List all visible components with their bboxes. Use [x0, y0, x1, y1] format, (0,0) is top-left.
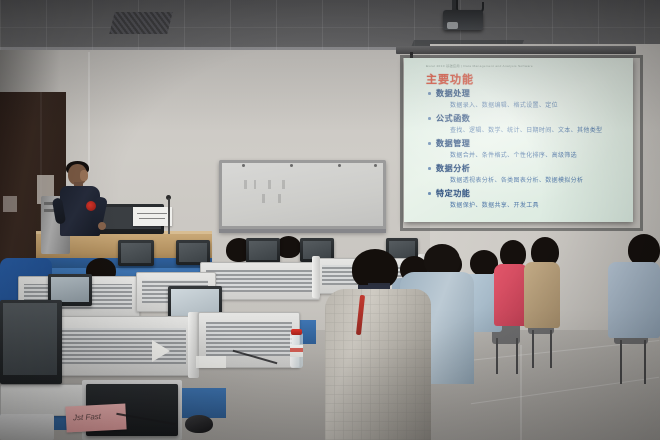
wall-corner	[88, 52, 90, 172]
chair-right-3-leg-2	[644, 340, 646, 384]
whiteboard-clip-4	[374, 164, 377, 167]
projector-lens-icon	[447, 22, 458, 29]
presenter-shirt-logo	[86, 201, 96, 211]
chair-right-2-leg-2	[550, 330, 552, 368]
wall-sign-paper-2	[3, 196, 17, 212]
paper-triangle-marker	[152, 340, 170, 362]
ceiling-vent-icon	[109, 12, 172, 34]
monitor-back-3-screen	[249, 241, 277, 260]
monitor-foreground-3	[0, 414, 54, 440]
screen-light-glare	[404, 58, 633, 222]
chair-right-1-leg	[496, 338, 498, 374]
computer-mouse	[185, 415, 213, 433]
chair-right-1-leg-2	[516, 338, 518, 374]
monitor-back-1-screen	[121, 243, 151, 263]
projector	[443, 10, 483, 30]
name-card	[133, 207, 172, 226]
chair-right-3-leg	[620, 340, 622, 384]
monitor-back-2-screen	[179, 243, 207, 262]
water-bottle-label-stripe	[290, 348, 303, 352]
partition-post-1	[312, 256, 320, 298]
whiteboard-clip-1	[242, 164, 245, 167]
microphone-stem	[168, 198, 170, 234]
student-torso-pink	[494, 264, 528, 326]
whiteboard-clip-2	[290, 164, 293, 167]
screen-roller-housing	[396, 46, 636, 54]
student-torso-tan-jacket	[524, 262, 560, 328]
monitor-mid-1-screen	[51, 277, 89, 302]
presenter-hand	[98, 222, 106, 230]
student-torso-striped-shirt	[608, 262, 660, 338]
chair-right-2-leg	[532, 330, 534, 368]
whiteboard-clip-3	[338, 164, 341, 167]
monitor-foreground-1-screen	[3, 303, 57, 375]
foreground-student-jacket-pattern	[325, 289, 431, 440]
whiteboard-erased-writing	[238, 178, 358, 208]
presenter-face	[80, 170, 88, 181]
desk-paper	[196, 356, 226, 368]
whiteboard-marker-tray	[219, 229, 386, 233]
floor-tile-line-3	[520, 345, 522, 440]
water-bottle-cap	[291, 329, 302, 335]
classroom-photo: Excel 2010 基础应用 | Data Management and An…	[0, 0, 660, 440]
desk-partition-front-2-vent	[206, 322, 292, 356]
